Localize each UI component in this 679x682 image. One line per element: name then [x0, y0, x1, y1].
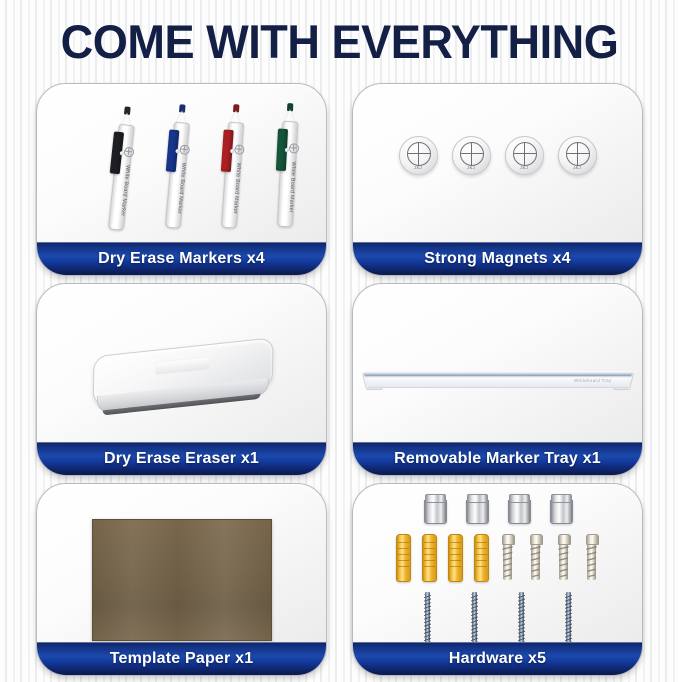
card-label: Template Paper x1	[110, 650, 254, 668]
marker-red: White Board Marker	[218, 104, 246, 227]
magnet-mark-text: J&J	[559, 165, 596, 170]
wood-screw-threads	[527, 543, 544, 580]
tray-body: Whiteboard Tray	[364, 367, 632, 393]
card-label: Hardware x5	[449, 650, 546, 668]
marker-black: White Board Marker	[105, 106, 138, 229]
marker-green: White Board Marker	[274, 103, 300, 226]
wall-anchor-body	[422, 534, 437, 582]
standoff-item	[424, 494, 445, 522]
card-banner: Template Paper x1	[36, 642, 327, 676]
standoff-body	[466, 500, 489, 524]
marker-logo-icon	[124, 147, 135, 158]
magnet-mark-text: J&J	[400, 165, 437, 170]
wall-anchor-item	[422, 534, 435, 580]
magnet-item: J&J	[452, 136, 491, 175]
card-dry-erase-eraser[interactable]: Dry Erase Eraser x1	[36, 283, 327, 476]
card-label: Dry Erase Eraser x1	[104, 450, 259, 468]
wood-screw-threads	[499, 543, 516, 580]
marker-blue: White Board Marker	[162, 104, 193, 227]
hardware-row-standoffs	[353, 494, 642, 522]
magnet-mark-text: J&J	[506, 165, 543, 170]
card-template-paper[interactable]: Template Paper x1	[36, 483, 327, 676]
wood-screw-item	[528, 534, 543, 580]
card-strong-magnets[interactable]: J&J J&J J&J J&J S	[352, 83, 643, 276]
magnet-emblem-icon	[407, 142, 431, 166]
magnet-item: J&J	[558, 136, 597, 175]
card-label: Removable Marker Tray x1	[394, 450, 601, 468]
standoff-body	[424, 500, 447, 524]
magnet-item: J&J	[399, 136, 438, 175]
long-screw-threads	[471, 594, 478, 646]
card-label: Strong Magnets x4	[424, 250, 571, 268]
standoff-cap	[467, 494, 488, 503]
wall-anchor-item	[474, 534, 487, 580]
standoff-item	[550, 494, 571, 522]
magnet-mark-text: J&J	[453, 165, 490, 170]
wood-screw-head	[530, 534, 543, 545]
feature-card-grid: White Board Marker White Board Marker	[36, 83, 643, 676]
marker-barrel-text: White Board Marker	[190, 159, 241, 180]
product-infographic: COME WITH EVERYTHING White Board Marker	[0, 0, 679, 682]
card-banner: Dry Erase Markers x4	[36, 242, 327, 276]
wall-anchor-item	[448, 534, 461, 580]
marker-logo-icon	[179, 144, 190, 155]
magnet-item: J&J	[505, 136, 544, 175]
standoff-body	[550, 500, 573, 524]
page-title: COME WITH EVERYTHING	[14, 14, 666, 70]
standoff-cap	[551, 494, 572, 503]
magnet-emblem-icon	[460, 142, 484, 166]
wood-screw-head	[586, 534, 599, 545]
template-paper-sheet	[92, 519, 272, 641]
long-screw-threads	[424, 594, 431, 646]
standoff-cap	[425, 494, 446, 503]
marker-logo-icon	[234, 144, 245, 155]
eraser-body	[92, 337, 271, 422]
card-label: Dry Erase Markers x4	[98, 250, 265, 268]
long-screw-threads	[565, 594, 572, 646]
card-hardware[interactable]: Hardware x5	[352, 483, 643, 676]
wood-screw-head	[502, 534, 515, 545]
magnets-illustration: J&J J&J J&J J&J	[353, 84, 642, 241]
hardware-row-anchors-screws	[353, 534, 642, 580]
tray-brand-text: Whiteboard Tray	[574, 378, 612, 383]
wall-anchor-item	[396, 534, 409, 580]
card-removable-marker-tray[interactable]: Whiteboard Tray Removable Marker Tray x1	[352, 283, 643, 476]
wood-screw-head	[558, 534, 571, 545]
long-screw-threads	[518, 594, 525, 646]
standoff-cap	[509, 494, 530, 503]
card-banner: Removable Marker Tray x1	[352, 442, 643, 476]
card-banner: Dry Erase Eraser x1	[36, 442, 327, 476]
wood-screw-item	[584, 534, 599, 580]
marker-barrel-text: White Board Marker	[79, 160, 131, 183]
wood-screw-threads	[555, 543, 572, 580]
magnet-emblem-icon	[513, 142, 537, 166]
wood-screw-threads	[583, 543, 600, 580]
card-banner: Hardware x5	[352, 642, 643, 676]
wall-anchor-body	[474, 534, 489, 582]
wall-anchor-body	[448, 534, 463, 582]
wall-anchor-body	[396, 534, 411, 582]
standoff-item	[508, 494, 529, 522]
marker-logo-icon	[289, 143, 300, 154]
standoff-item	[466, 494, 487, 522]
marker-barrel-text: White Board Marker	[135, 159, 186, 181]
card-banner: Strong Magnets x4	[352, 242, 643, 276]
wood-screw-item	[556, 534, 571, 580]
standoff-body	[508, 500, 531, 524]
tray-top-lip	[364, 371, 632, 376]
magnet-emblem-icon	[566, 142, 590, 166]
card-dry-erase-markers[interactable]: White Board Marker White Board Marker	[36, 83, 327, 276]
wood-screw-item	[500, 534, 515, 580]
marker-barrel-text: White Board Marker	[245, 159, 296, 180]
